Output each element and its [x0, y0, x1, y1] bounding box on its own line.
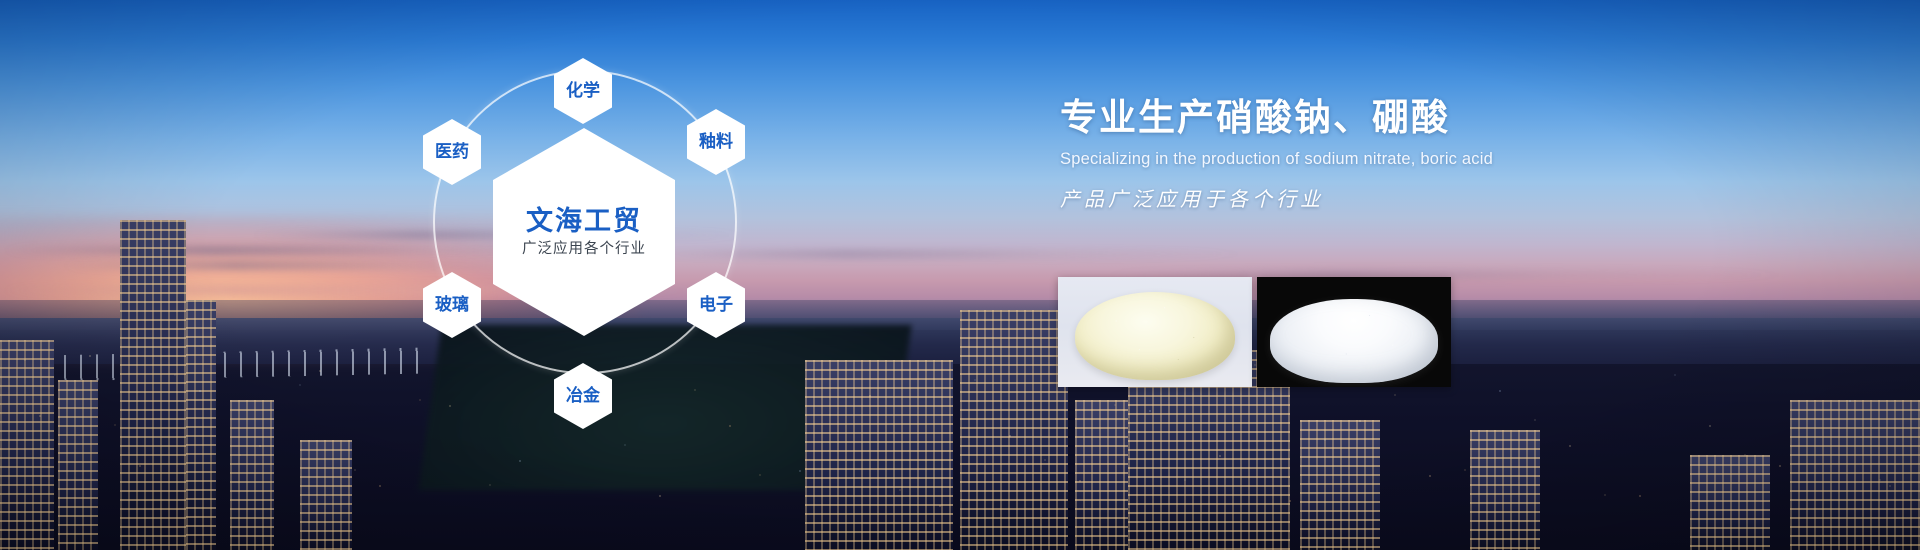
main-heading: 专业生产硝酸钠、硼酸	[1060, 97, 1820, 140]
company-tagline: 广泛应用各个行业	[522, 242, 646, 257]
industry-hex-diagram: 化学 釉料 电子 冶金 玻璃 医药 文海工贸 广泛应用各个行业	[425, 28, 745, 448]
company-name: 文海工贸	[526, 208, 642, 235]
chinese-tagline: 产品广泛应用于各个行业	[1060, 187, 1820, 211]
vignette-overlay	[0, 0, 1920, 550]
product-photo-sodium-nitrate[interactable]	[1058, 277, 1252, 387]
hex-node-label: 化学	[566, 83, 600, 100]
product-photo-group	[1058, 277, 1451, 387]
hex-node-label: 玻璃	[435, 297, 469, 314]
product-photo-boric-acid[interactable]	[1257, 277, 1451, 387]
hex-node-label: 医药	[435, 144, 469, 161]
powder-grain-texture	[1257, 277, 1451, 387]
background-cityscape	[0, 0, 1920, 550]
hex-node-label: 电子	[699, 297, 733, 314]
english-subtitle: Specializing in the production of sodium…	[1060, 150, 1820, 170]
hex-node-label: 冶金	[566, 388, 600, 405]
powder-grain-texture	[1058, 277, 1252, 387]
promo-banner: 化学 釉料 电子 冶金 玻璃 医药 文海工贸 广泛应用各个行业 专业生产硝酸钠、…	[0, 0, 1920, 550]
headline-block: 专业生产硝酸钠、硼酸 Specializing in the productio…	[1060, 97, 1820, 211]
hex-node-label: 釉料	[699, 134, 733, 151]
